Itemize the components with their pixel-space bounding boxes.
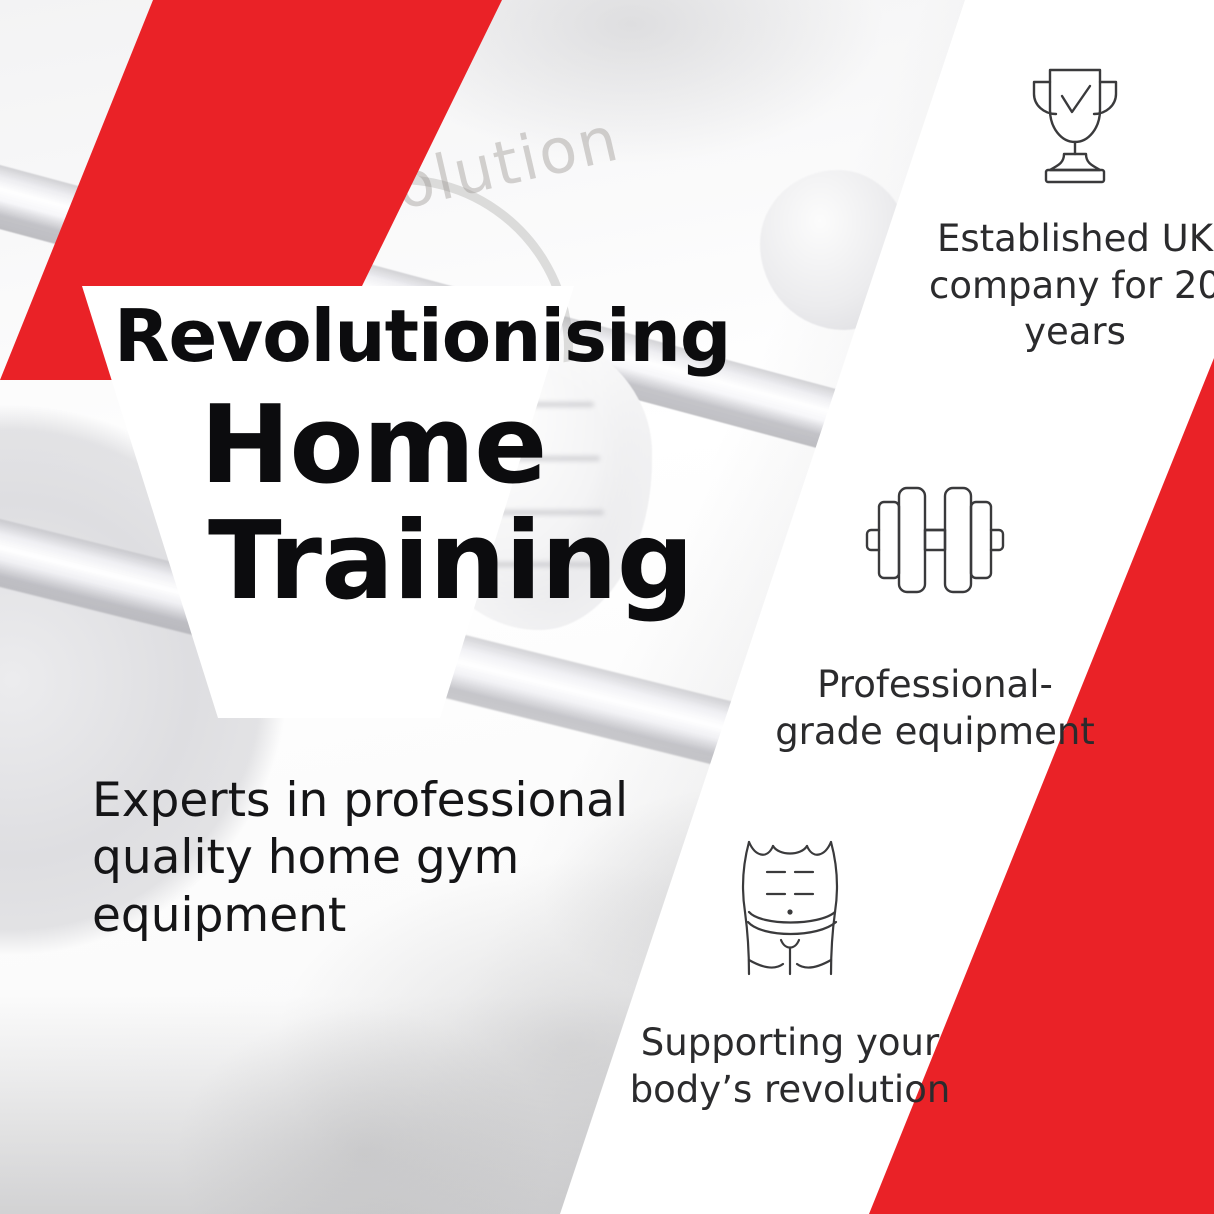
- feature-label: Professional-grade equipment: [770, 662, 1100, 755]
- dumbbell-icon: [845, 478, 1025, 638]
- headline-line-2: Home: [200, 392, 546, 500]
- subheading-text: Experts in professional quality home gym…: [92, 772, 672, 944]
- feature-item-established: Established UK company for 20 years: [910, 60, 1214, 356]
- feature-label: Supporting your body’s revolution: [625, 1020, 955, 1113]
- feature-list: Established UK company for 20 years Prof…: [620, 0, 1214, 1214]
- feature-label: Established UK company for 20 years: [910, 216, 1214, 356]
- promo-banner: revolution Revolutionising Home Training…: [0, 0, 1214, 1214]
- trophy-check-icon: [985, 60, 1165, 192]
- feature-item-body: Supporting your body’s revolution: [625, 836, 955, 1113]
- torso-abs-icon: [700, 836, 880, 996]
- feature-item-equipment: Professional-grade equipment: [770, 478, 1100, 755]
